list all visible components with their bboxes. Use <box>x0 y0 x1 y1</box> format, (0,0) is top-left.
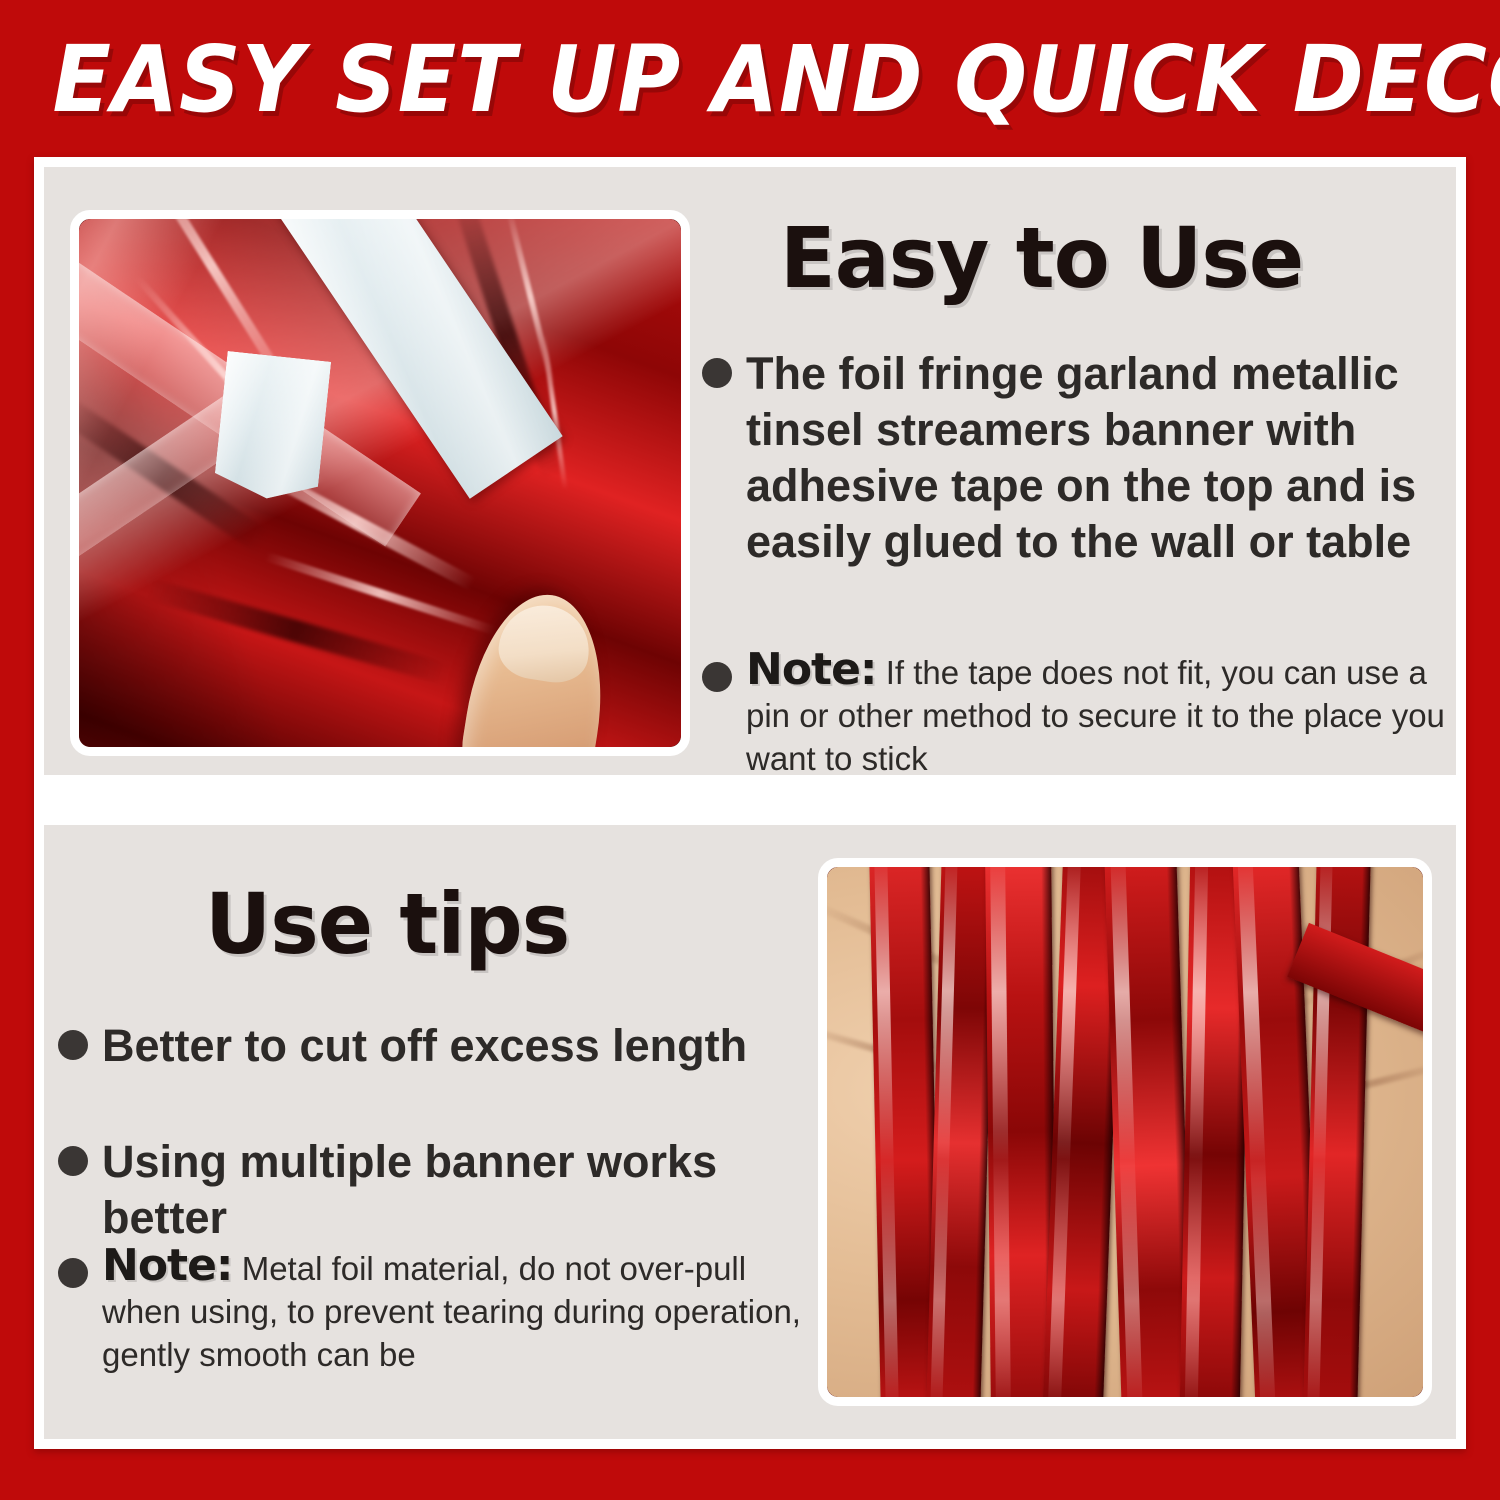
bullet-tip-2-text: Using multiple banner works better <box>102 1136 717 1243</box>
bullet-easy-main: The foil fringe garland metallic tinsel … <box>702 346 1442 570</box>
note-tips-label: Note: <box>102 1240 233 1291</box>
bullet-easy-main-text: The foil fringe garland metallic tinsel … <box>746 348 1416 567</box>
bullet-tip-1-text: Better to cut off excess length <box>102 1020 747 1071</box>
photo-foil-fringe <box>818 858 1432 1406</box>
photo-adhesive-tape <box>70 210 690 756</box>
bullet-easy-note-body: Note: If the tape does not fit, you can … <box>746 648 1450 780</box>
bullet-tips-note-body: Note: Metal foil material, do not over-p… <box>102 1244 818 1376</box>
bullet-dot-icon <box>702 662 732 692</box>
bullet-tip-1: Better to cut off excess length <box>58 1018 818 1074</box>
infographic-page: EASY SET UP AND QUICK DECOR <box>0 0 1500 1500</box>
page-title: EASY SET UP AND QUICK DECOR <box>53 30 1448 130</box>
note-easy-label: Note: <box>746 644 877 695</box>
bullet-dot-icon <box>58 1146 88 1176</box>
header-band: EASY SET UP AND QUICK DECOR <box>0 0 1500 152</box>
bullet-dot-icon <box>58 1258 88 1288</box>
bullet-tip-2-body: Using multiple banner works better <box>102 1134 818 1246</box>
photo-foil-fringe-image <box>827 867 1423 1397</box>
bullet-tip-1-body: Better to cut off excess length <box>102 1018 818 1074</box>
bullet-easy-note: Note: If the tape does not fit, you can … <box>702 648 1450 780</box>
note-easy-line: Note: If the tape does not fit, you can … <box>746 654 1445 777</box>
bullet-dot-icon <box>702 358 732 388</box>
bullet-dot-icon <box>58 1030 88 1060</box>
heading-use-tips: Use tips <box>205 878 569 970</box>
bullet-easy-main-body: The foil fringe garland metallic tinsel … <box>746 346 1442 570</box>
heading-easy-to-use: Easy to Use <box>780 212 1303 304</box>
bullet-tips-note: Note: Metal foil material, do not over-p… <box>58 1244 818 1376</box>
note-tips-line: Note: Metal foil material, do not over-p… <box>102 1250 801 1373</box>
bullet-tip-2: Using multiple banner works better <box>58 1134 818 1246</box>
photo-adhesive-tape-image <box>79 219 681 747</box>
